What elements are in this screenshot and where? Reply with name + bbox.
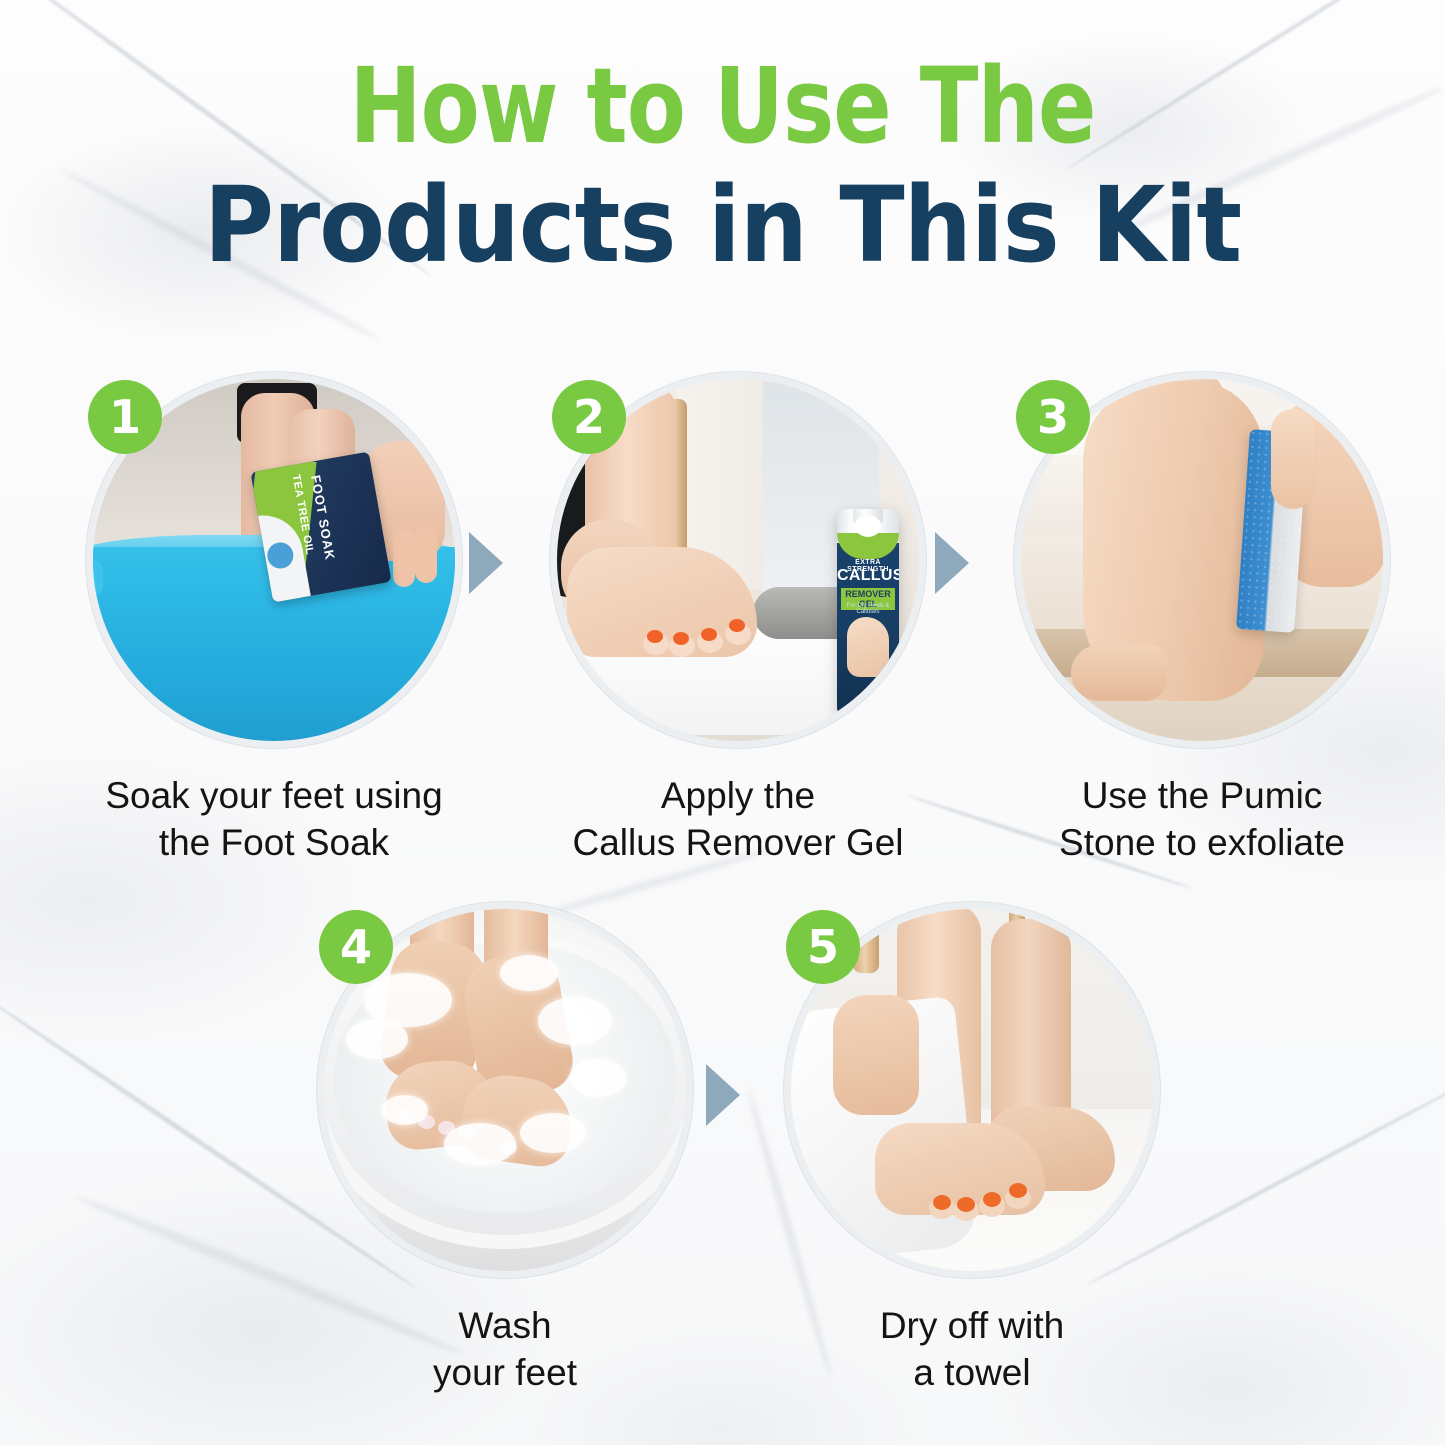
bottle-label: EXTRA STRENGTH CALLUS REMOVER GEL For Dr… bbox=[837, 543, 899, 714]
step-3-caption: Use the Pumic Stone to exfoliate bbox=[992, 772, 1412, 867]
step-4-number-badge: 4 bbox=[319, 910, 393, 984]
arrow-step1-to-step2 bbox=[469, 532, 503, 594]
callus-remover-bottle: EXTRA STRENGTH CALLUS REMOVER GEL For Dr… bbox=[837, 509, 899, 714]
step-4-media: 4 bbox=[317, 902, 693, 1278]
arrow-step4-to-step5 bbox=[706, 1064, 740, 1126]
hand bbox=[833, 995, 919, 1115]
basin-handle bbox=[86, 561, 103, 595]
page-title-line1: How to Use The bbox=[58, 52, 1387, 161]
step-1-media: TEA TREE OIL FOOT SOAK 1 bbox=[86, 372, 462, 748]
step-4: 4 Wash your feet bbox=[295, 902, 715, 1397]
bottle-line4: For Dry Heels & Calluses bbox=[837, 603, 899, 615]
page-title-line2: Products in This Kit bbox=[58, 169, 1387, 281]
foot-soak-packet: TEA TREE OIL FOOT SOAK bbox=[250, 452, 391, 603]
bottle-line2: CALLUS bbox=[837, 567, 899, 585]
step-2-number-badge: 2 bbox=[552, 380, 626, 454]
steps-row-bottom: 4 Wash your feet bbox=[0, 902, 1445, 1402]
thumb bbox=[1271, 409, 1315, 509]
arrow-step2-to-step3 bbox=[935, 532, 969, 594]
step-5-number-badge: 5 bbox=[786, 910, 860, 984]
toes bbox=[1071, 645, 1167, 701]
step-3-number-badge: 3 bbox=[1016, 380, 1090, 454]
bottle-feet-graphic bbox=[847, 617, 889, 677]
step-5-caption: Dry off with a towel bbox=[762, 1302, 1182, 1397]
step-1: TEA TREE OIL FOOT SOAK 1 Soak your feet … bbox=[64, 372, 484, 867]
step-1-number-badge: 1 bbox=[88, 380, 162, 454]
steps-row-top: TEA TREE OIL FOOT SOAK 1 Soak your feet … bbox=[0, 372, 1445, 862]
brand-logo bbox=[855, 515, 881, 537]
step-2-media: EXTRA STRENGTH CALLUS REMOVER GEL For Dr… bbox=[550, 372, 926, 748]
page-title: How to Use The Products in This Kit bbox=[0, 52, 1445, 282]
step-3: 3 Use the Pumic Stone to exfoliate bbox=[992, 372, 1412, 867]
step-2: EXTRA STRENGTH CALLUS REMOVER GEL For Dr… bbox=[528, 372, 948, 867]
step-5: 5 Dry off with a towel bbox=[762, 902, 1182, 1397]
step-2-caption: Apply the Callus Remover Gel bbox=[528, 772, 948, 867]
step-1-caption: Soak your feet using the Foot Soak bbox=[64, 772, 484, 867]
step-4-caption: Wash your feet bbox=[295, 1302, 715, 1397]
step-3-media: 3 bbox=[1014, 372, 1390, 748]
step-5-media: 5 bbox=[784, 902, 1160, 1278]
